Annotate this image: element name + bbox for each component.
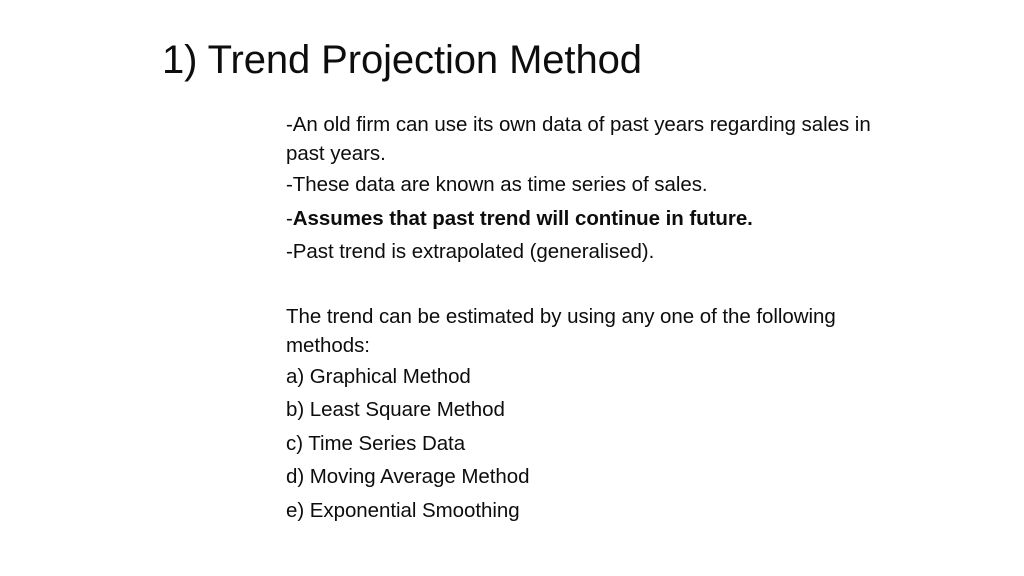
body-paragraph-intro: -An old firm can use its own data of pas… [286, 110, 878, 168]
slide-body: -An old firm can use its own data of pas… [286, 110, 878, 527]
slide: 1) Trend Projection Method -An old firm … [0, 0, 1024, 576]
slide-title: 1) Trend Projection Method [162, 36, 862, 84]
body-line-extrapolated: -Past trend is extrapolated (generalised… [286, 235, 878, 269]
list-item-e: e) Exponential Smoothing [286, 494, 878, 528]
body-line-time-series: -These data are known as time series of … [286, 168, 878, 202]
list-item-d: d) Moving Average Method [286, 460, 878, 494]
body-line-assumes: -Assumes that past trend will continue i… [286, 202, 878, 236]
list-item-b: b) Least Square Method [286, 393, 878, 427]
body-line-assumes-dash: - [286, 207, 293, 230]
list-item-a: a) Graphical Method [286, 360, 878, 394]
body-line-assumes-text: Assumes that past trend will continue in… [293, 207, 753, 230]
body-methods-intro: The trend can be estimated by using any … [286, 302, 878, 360]
body-spacer [286, 269, 878, 302]
list-item-c: c) Time Series Data [286, 427, 878, 461]
